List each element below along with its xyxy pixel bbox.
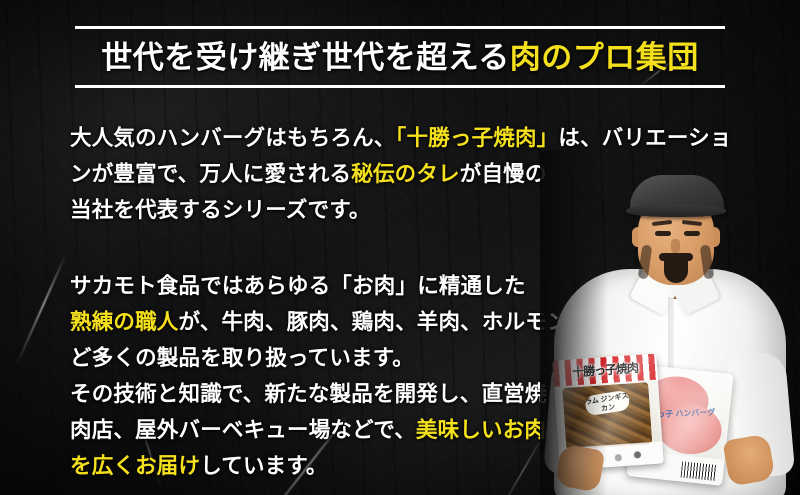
- nose: [671, 239, 680, 253]
- title-accent-text: 肉のプロ集団: [510, 40, 699, 75]
- craftsman-photo: 十勝っ子 ハンバーグ 十勝っ子焼肉 ラム ジンギスカン: [540, 150, 800, 495]
- page-title: 世代を受け継ぎ世代を超える肉のプロ集団: [0, 29, 800, 85]
- p1-line1-a: 大人気のハンバーグはもちろん、: [70, 126, 396, 150]
- promo-banner: 世代を受け継ぎ世代を超える肉のプロ集団 大人気のハンバーグはもちろん、「十勝っ子…: [0, 0, 800, 495]
- p2-line5-a: 肉店、屋外バーベキュー場などで、: [70, 418, 416, 442]
- barcode: [681, 461, 716, 480]
- p1-line3: 当社を代表するシリーズです。: [70, 198, 371, 222]
- p1-line2-accent: 秘伝のタレ: [351, 162, 460, 186]
- paragraph-spacer: [70, 228, 590, 268]
- p2-line6-accent: を広くお届け: [70, 454, 200, 478]
- p2-line2-accent: 熟練の職人: [70, 310, 179, 334]
- title-rule-bottom: [75, 85, 725, 88]
- p2-line5-accent: 美味しいお肉: [416, 418, 546, 442]
- eye-right: [684, 231, 700, 236]
- body-copy: 大人気のハンバーグはもちろん、「十勝っ子焼肉」は、バリエーショ ンが豊富で、万人…: [70, 120, 590, 484]
- eye-left: [655, 231, 671, 236]
- p1-line2-a: ンが豊富で、万人に愛される: [70, 162, 351, 186]
- p2-line4: その技術と知識で、新たな製品を開発し、直営焼: [70, 382, 547, 406]
- title-block: 世代を受け継ぎ世代を超える肉のプロ集団: [0, 26, 800, 88]
- p2-line3: ど多くの製品を取り扱っています。: [70, 346, 414, 370]
- p1-line1-b: は、バリエーショ: [558, 126, 731, 150]
- p2-line1: サカモト食品ではあらゆる「お肉」に精通した: [70, 274, 526, 298]
- paragraph-one: 大人気のハンバーグはもちろん、「十勝っ子焼肉」は、バリエーショ ンが豊富で、万人…: [70, 120, 590, 228]
- p2-line2-b: が、牛肉、豚肉、鶏肉、羊肉、ホルモンな: [179, 310, 591, 334]
- paragraph-two: サカモト食品ではあらゆる「お肉」に精通した 熟練の職人が、牛肉、豚肉、鶏肉、羊肉…: [70, 268, 590, 484]
- title-plain-text: 世代を受け継ぎ世代を超える: [101, 40, 510, 75]
- cap-brim: [626, 204, 726, 217]
- goatee: [664, 259, 688, 283]
- p1-line2-b: が自慢の: [460, 162, 547, 186]
- p1-line1-accent: 「十勝っ子焼肉」: [396, 126, 559, 150]
- p2-line6-b: しています。: [200, 454, 327, 478]
